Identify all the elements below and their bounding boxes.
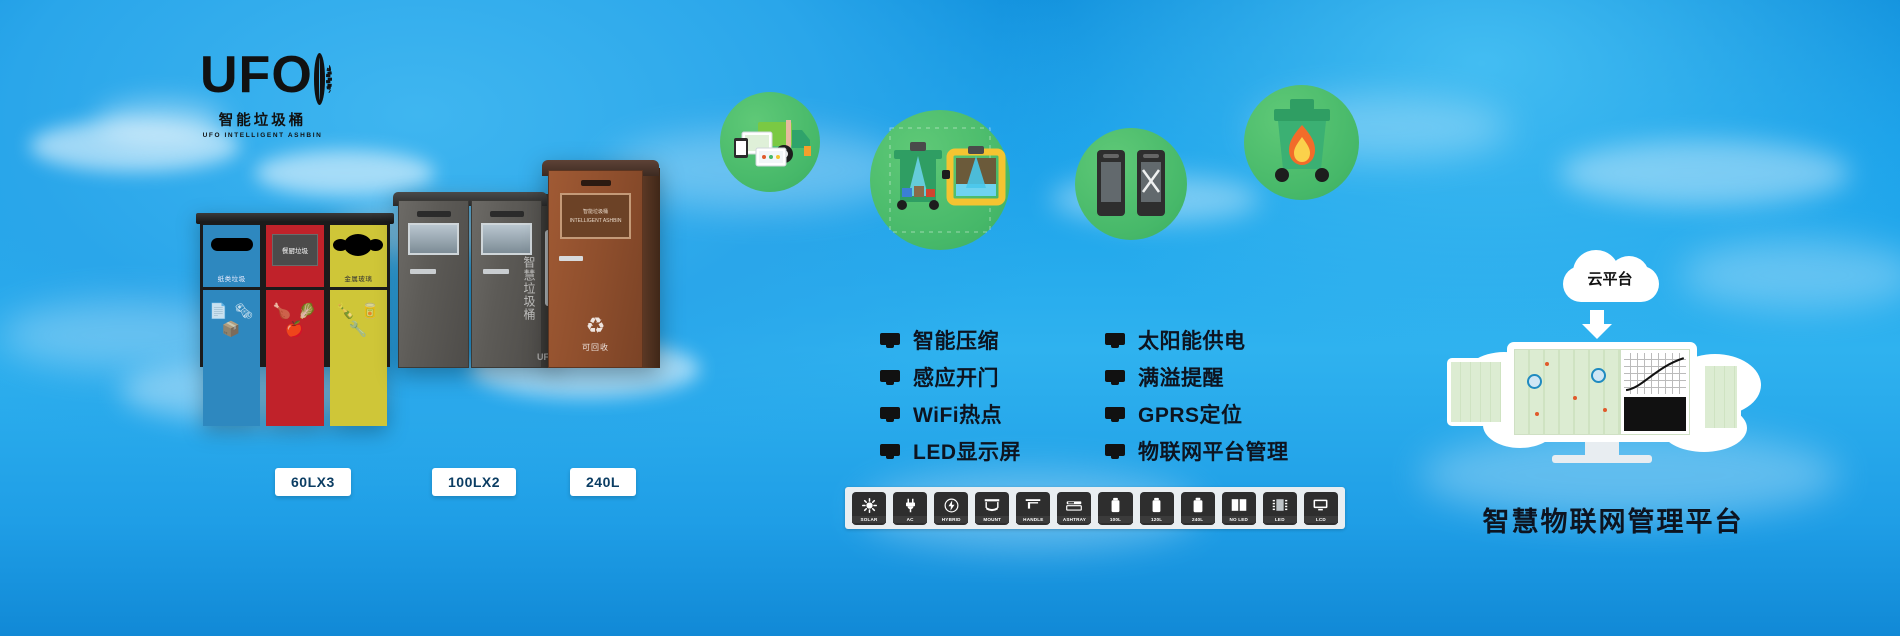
feature-column-left: 智能压缩 感应开门 WiFi热点 LED显示屏: [880, 325, 1021, 466]
monitor-neck: [1585, 442, 1619, 455]
option-badge-mount[interactable]: MOUNT: [975, 492, 1009, 525]
bin-display-window: 智能垃圾桶 INTELLIGENT ASHBIN: [560, 193, 631, 239]
option-badge-240l[interactable]: 240L: [1181, 492, 1215, 525]
display-plate: 餐厨垃圾: [272, 234, 318, 266]
feature-label: 智能压缩: [913, 325, 999, 355]
brand-english-tagline: UFO INTELLIGENT ASHBIN: [200, 132, 325, 139]
compartment-label: 金属玻璃: [330, 273, 387, 283]
badge-label: LED: [1263, 516, 1297, 523]
bin-body: [398, 200, 542, 368]
bin-compartment-paper: 纸类垃圾 📄 🗞 📦: [200, 222, 263, 367]
feature-label: LED显示屏: [913, 436, 1021, 466]
bin-window: [408, 223, 459, 255]
badge-label: SOLAR: [852, 516, 886, 523]
led-strip-icon: [581, 180, 611, 186]
led-strip-icon: [490, 211, 524, 217]
wall-mount-icon: [984, 495, 1000, 516]
waste-slot-icon: [211, 238, 253, 251]
cloud-platform-badge: 云平台: [1551, 250, 1669, 304]
badge-label: ASHTRAY: [1057, 516, 1091, 523]
badge-label: AC: [893, 516, 927, 523]
compartment-lower: 🍾 🥫 🔧: [330, 287, 387, 426]
monitor-bullet-icon: [880, 333, 900, 348]
recycle-label: 可回收: [549, 342, 642, 353]
smartphone-device: [1701, 362, 1741, 432]
feature-label: 满溢提醒: [1138, 362, 1224, 392]
feature-list: 智能压缩 感应开门 WiFi热点 LED显示屏 太阳能供电 满溢提醒: [880, 325, 1289, 466]
compartment-upper: 金属玻璃: [330, 225, 387, 287]
bin-window: [481, 223, 532, 255]
monitor-base: [1552, 455, 1652, 463]
brand-chinese-name: 智能垃圾桶: [200, 109, 325, 130]
monitor-frame: [1507, 342, 1697, 442]
feature-column-right: 太阳能供电 满溢提醒 GPRS定位 物联网平台管理: [1105, 325, 1289, 466]
feature-circle-collection-truck: [720, 92, 820, 192]
cloud-platform-illustration: 云平台: [1455, 296, 1765, 481]
option-badge-ac[interactable]: AC: [893, 492, 927, 525]
monitor-bullet-icon: [1105, 333, 1125, 348]
screen-line-2: INTELLIGENT ASHBIN: [570, 218, 622, 224]
option-badge-solar[interactable]: SOLAR: [852, 492, 886, 525]
map-view: [1515, 350, 1620, 434]
bin-sensor-fill-level-icon: [870, 110, 1010, 250]
product-bin-100lx2: 智慧垃圾桶 UFO: [398, 200, 542, 368]
badge-label: 120L: [1140, 516, 1174, 523]
option-badge-led[interactable]: LED: [1263, 492, 1297, 525]
collection-truck-and-devices-icon: [720, 92, 820, 192]
product-bin-240l: 智能垃圾桶 INTELLIGENT ASHBIN ♻ 可回收: [548, 170, 643, 368]
platform-title: 智慧物联网管理平台: [1448, 500, 1778, 539]
bin-side-panel: [641, 168, 660, 368]
bin-handle-icon: [410, 269, 436, 274]
option-badge-handle[interactable]: HANDLE: [1016, 492, 1050, 525]
kitchen-waste-graphic-icon: 🍗 🥬 🍎: [266, 302, 323, 338]
bin-compartment-kitchen: 餐厨垃圾 🍗 🥬 🍎: [263, 222, 326, 367]
two-smart-bins-icon: [1075, 128, 1187, 240]
brand-logo: UFO 智能垃圾桶 UFO INTELLIGENT ASHBIN: [200, 52, 325, 139]
map-pin-icon: [1527, 374, 1542, 389]
badge-label: MOUNT: [975, 516, 1009, 523]
lcd-screen-icon: [1312, 495, 1329, 516]
cloud-decoration: [1560, 140, 1850, 206]
map-marker-dot: [1573, 396, 1577, 400]
banner-stage: UFO 智能垃圾桶 UFO INTELLIGENT ASHBIN 纸类垃圾 📄 …: [0, 0, 1900, 636]
screen-line-1: 智能垃圾桶: [583, 208, 608, 215]
monitor-bullet-icon: [880, 370, 900, 385]
monitor-bullet-icon: [1105, 444, 1125, 459]
paper-waste-graphic-icon: 📄 🗞 📦: [203, 302, 260, 338]
trend-line-icon: [1624, 353, 1686, 394]
capacity-pill-60lx3: 60LX3: [275, 468, 351, 496]
compartment-upper: 纸类垃圾: [203, 225, 260, 287]
handle-icon: [1025, 495, 1041, 516]
feature-item: 智能压缩: [880, 325, 1021, 355]
feature-label: GPRS定位: [1138, 399, 1243, 429]
recycle-icon: ♻: [549, 313, 642, 339]
led-strip-icon: [417, 211, 451, 217]
ufo-ring-icon: [314, 53, 325, 105]
cloud-platform-label: 云平台: [1551, 268, 1669, 289]
brand-wordmark: UFO: [200, 52, 313, 100]
hybrid-power-icon: [944, 495, 959, 516]
sun-icon: [862, 495, 877, 516]
power-plug-icon: [903, 495, 918, 516]
feature-label: WiFi热点: [913, 399, 1002, 429]
feature-circle-smart-bins: [1075, 128, 1187, 240]
monitor-screen: [1514, 349, 1690, 435]
feature-item: 感应开门: [880, 362, 1021, 392]
desktop-monitor: [1507, 342, 1697, 464]
option-badge-strip: SOLAR AC HYBRID MOUNT: [845, 487, 1345, 529]
badge-label: 100L: [1098, 516, 1132, 523]
option-badge-100l[interactable]: 100L: [1098, 492, 1132, 525]
no-led-panel-icon: [1231, 495, 1247, 516]
badge-label: LCD: [1304, 516, 1338, 523]
compartment-lower: 📄 🗞 📦: [203, 287, 260, 426]
option-badge-ashtray[interactable]: ASHTRAY: [1057, 492, 1091, 525]
bin-front-face: 智能垃圾桶 INTELLIGENT ASHBIN ♻ 可回收: [548, 170, 643, 368]
monitor-bullet-icon: [880, 444, 900, 459]
badge-label: HYBRID: [934, 516, 968, 523]
feature-item: WiFi热点: [880, 399, 1021, 429]
line-chart-grid: [1624, 353, 1686, 394]
feature-circle-fill-sensor: [870, 110, 1010, 250]
bin-handle-icon: [559, 256, 583, 261]
feature-item: 物联网平台管理: [1105, 436, 1289, 466]
feature-circle-fire-alarm: [1244, 85, 1359, 200]
bin-120l-icon: [1151, 495, 1162, 516]
bin-240l-icon: [1192, 495, 1204, 516]
bin-door-left: [398, 200, 469, 368]
monitor-bullet-icon: [1105, 370, 1125, 385]
feature-item: 太阳能供电: [1105, 325, 1289, 355]
capacity-pill-240l: 240L: [570, 468, 636, 496]
product-bin-60lx3: 纸类垃圾 📄 🗞 📦 餐厨垃圾 🍗 🥬 🍎 金属玻璃 🍾 🥫 🔧: [200, 222, 390, 367]
waste-slot-icon: [344, 234, 372, 256]
cloud-decoration: [255, 150, 435, 196]
ashtray-icon: [1066, 495, 1082, 516]
map-pin-icon: [1591, 368, 1606, 383]
badge-label: 240L: [1181, 516, 1215, 523]
option-badge-lcd[interactable]: LCD: [1304, 492, 1338, 525]
feature-label: 物联网平台管理: [1138, 436, 1289, 466]
tablet-device: [1447, 358, 1505, 426]
feature-label: 太阳能供电: [1138, 325, 1246, 355]
option-badge-hybrid[interactable]: HYBRID: [934, 492, 968, 525]
analytics-panel: [1620, 350, 1689, 434]
compartment-lower: 🍗 🥬 🍎: [266, 287, 323, 426]
monitor-bullet-icon: [1105, 407, 1125, 422]
badge-label: NO LED: [1222, 516, 1256, 523]
compartment-upper: 餐厨垃圾: [266, 225, 323, 287]
capacity-pill-100lx2: 100LX2: [432, 468, 516, 496]
bin-vertical-text: 智慧垃圾桶: [523, 256, 536, 321]
compartment-label: 纸类垃圾: [203, 273, 260, 283]
bin-100l-icon: [1110, 495, 1121, 516]
bin-handle-icon: [483, 269, 509, 274]
feature-item: 满溢提醒: [1105, 362, 1289, 392]
badge-label: HANDLE: [1016, 516, 1050, 523]
option-badge-no-led[interactable]: NO LED: [1222, 492, 1256, 525]
fire-alarm-bin-icon: [1244, 85, 1359, 200]
feature-label: 感应开门: [913, 362, 999, 392]
feature-item: LED显示屏: [880, 436, 1021, 466]
map-marker-dot: [1535, 412, 1539, 416]
feature-item: GPRS定位: [1105, 399, 1289, 429]
monitor-bullet-icon: [880, 407, 900, 422]
map-marker-dot: [1545, 362, 1549, 366]
map-marker-dot: [1603, 408, 1607, 412]
bar-chart-area: [1624, 397, 1686, 431]
led-panel-icon: [1272, 495, 1288, 516]
option-badge-120l[interactable]: 120L: [1140, 492, 1174, 525]
metal-glass-graphic-icon: 🍾 🥫 🔧: [330, 302, 387, 338]
bin-compartment-metal-glass: 金属玻璃 🍾 🥫 🔧: [327, 222, 390, 367]
